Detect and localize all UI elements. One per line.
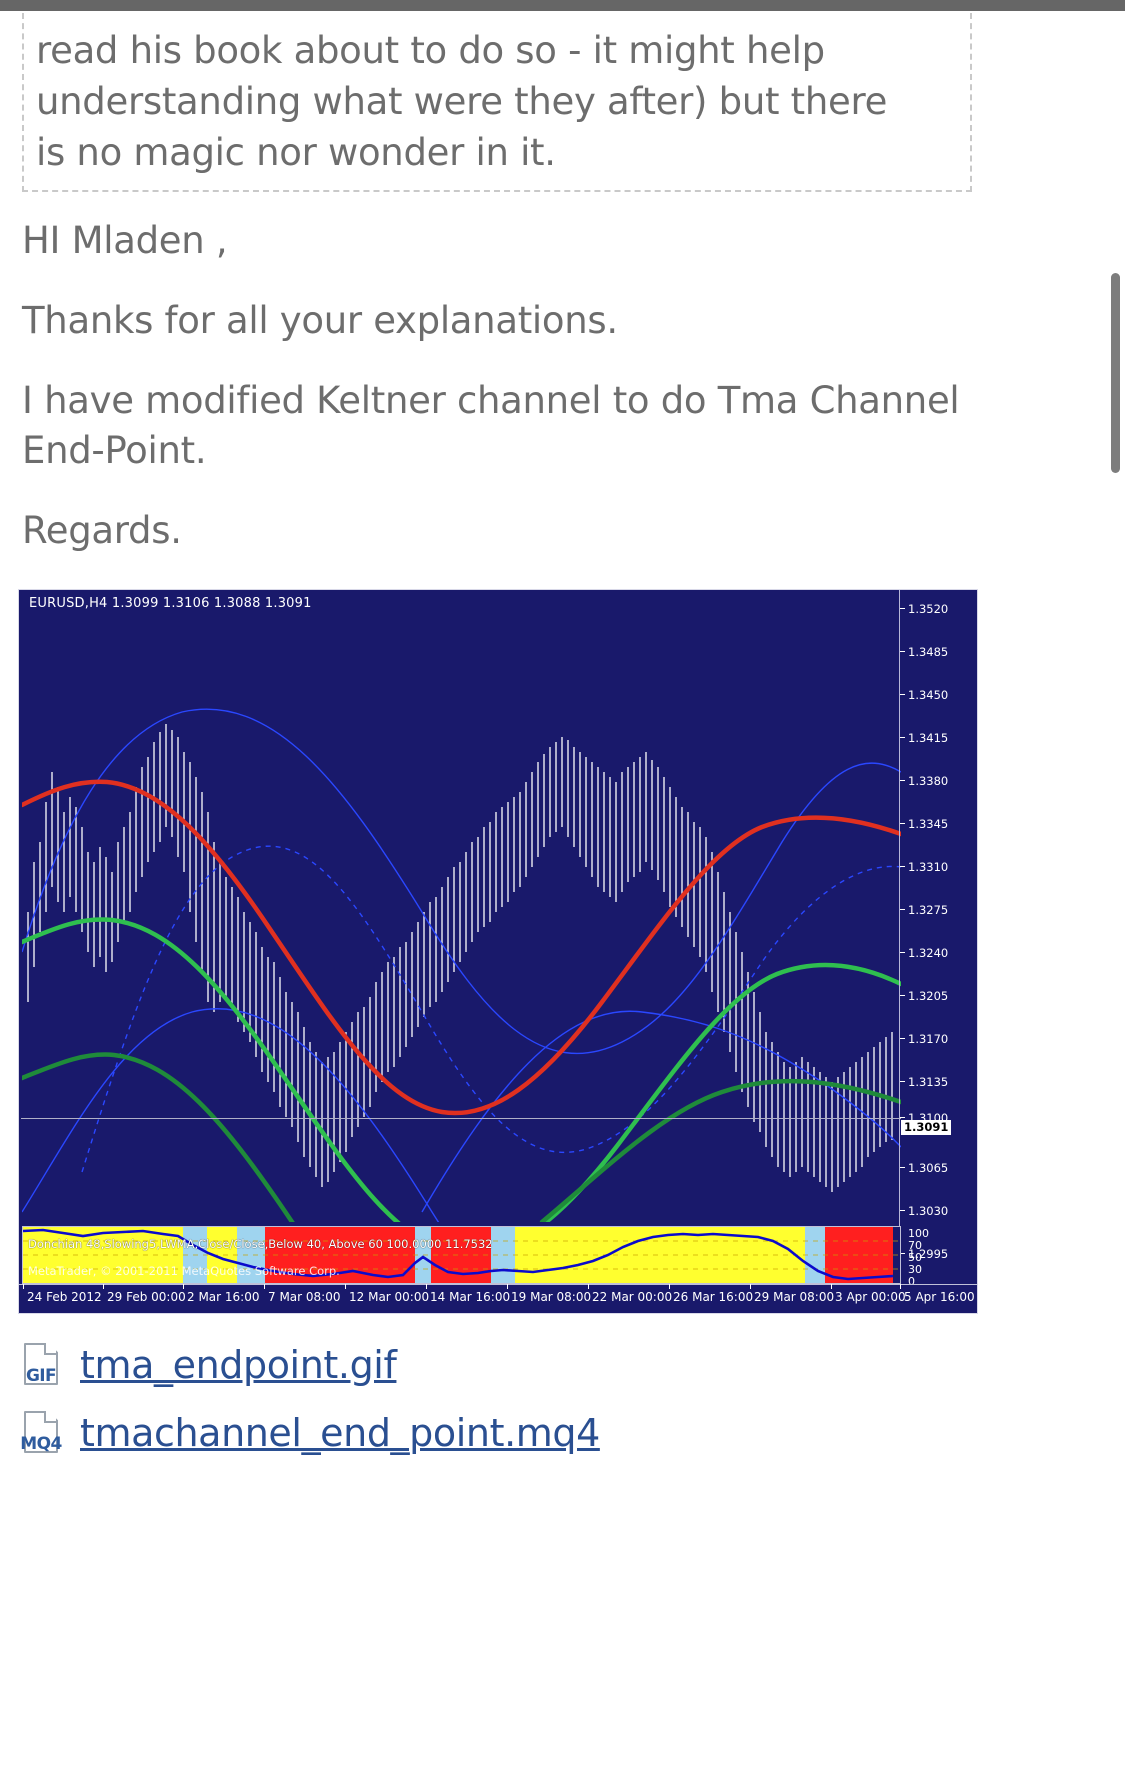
candlestick-series xyxy=(28,724,892,1192)
chart-price-plot xyxy=(22,612,901,1222)
post-paragraph-thanks: Thanks for all your explanations. xyxy=(22,296,972,346)
price-tick-13: 1.3065 xyxy=(899,1161,948,1175)
time-axis[interactable]: 24 Feb 2012 29 Feb 00:00 2 Mar 16:00 7 M… xyxy=(19,1284,977,1313)
price-tick-2: 1.3450 xyxy=(899,688,948,702)
page-scrollbar-thumb[interactable] xyxy=(1111,273,1120,473)
quoted-message-block: … read his book about to do so - it migh… xyxy=(22,13,972,192)
time-tick-4: 12 Mar 00:00 xyxy=(349,1290,429,1304)
indicator-tick-50: 50 xyxy=(908,1252,922,1263)
time-tick-6: 19 Mar 08:00 xyxy=(511,1290,591,1304)
quote-clipped-line: … xyxy=(36,17,960,25)
post-paragraph-signoff: Regards. xyxy=(22,506,972,556)
indicator-scale: 100 70 50 30 0 xyxy=(899,1226,977,1286)
indicator-tick-100: 100 xyxy=(908,1228,929,1239)
current-price-badge: 1.3091 xyxy=(901,1120,951,1135)
indicator-subwindow[interactable]: Donchian 48,Slowing5,LWMA,Close/Close,Be… xyxy=(22,1226,901,1284)
tma-lower-band-darkgreen-2 xyxy=(542,1081,901,1222)
quote-line-3: is no magic nor wonder in it. xyxy=(36,127,960,178)
price-tick-1: 1.3485 xyxy=(899,645,948,659)
post-body: HI Mladen , Thanks for all your explanat… xyxy=(22,216,972,586)
time-tick-10: 3 Apr 00:00 xyxy=(835,1290,906,1304)
price-tick-8: 1.3240 xyxy=(899,946,948,960)
attachment-row-gif[interactable]: GIF tma_endpoint.gif xyxy=(20,1341,970,1389)
time-tick-0: 24 Feb 2012 xyxy=(27,1290,102,1304)
post-paragraph-description: I have modified Keltner channel to do Tm… xyxy=(22,376,972,476)
time-tick-3: 7 Mar 08:00 xyxy=(268,1290,341,1304)
post-paragraph-greeting: HI Mladen , xyxy=(22,216,972,266)
quote-line-2: understanding what were they after) but … xyxy=(36,76,960,127)
time-tick-5: 14 Mar 16:00 xyxy=(430,1290,510,1304)
price-tick-14: 1.3030 xyxy=(899,1204,948,1218)
current-price-line xyxy=(21,1118,901,1119)
chart-title-ohlc: EURUSD,H4 1.3099 1.3106 1.3088 1.3091 xyxy=(29,596,312,611)
metatrader-chart-image[interactable]: EURUSD,H4 1.3099 1.3106 1.3088 1.3091 xyxy=(18,589,978,1314)
quote-line-1: read his book about to do so - it might … xyxy=(36,25,960,76)
price-tick-10: 1.3170 xyxy=(899,1032,948,1046)
mq4-file-icon: MQ4 xyxy=(20,1409,62,1457)
price-scale[interactable]: 1.3520 1.3485 1.3450 1.3415 1.3380 1.334… xyxy=(899,590,977,1313)
price-tick-4: 1.3380 xyxy=(899,774,948,788)
channel-lower-line-2 xyxy=(422,1011,901,1212)
forum-post-page: … read his book about to do so - it migh… xyxy=(0,11,1125,1781)
indicator-tick-70: 70 xyxy=(908,1240,922,1251)
price-tick-0: 1.3520 xyxy=(899,602,948,616)
time-tick-2: 2 Mar 16:00 xyxy=(187,1290,260,1304)
attachment-link-mq4[interactable]: tmachannel_end_point.mq4 xyxy=(80,1410,600,1456)
price-tick-6: 1.3310 xyxy=(899,860,948,874)
chart-canvas: EURUSD,H4 1.3099 1.3106 1.3088 1.3091 xyxy=(19,590,977,1313)
time-tick-1: 29 Feb 00:00 xyxy=(107,1290,186,1304)
price-tick-5: 1.3345 xyxy=(899,817,948,831)
browser-chrome-bar xyxy=(0,0,1125,11)
metaquotes-copyright: MetaTrader, © 2001-2011 MetaQuotes Softw… xyxy=(28,1264,340,1278)
page-scrollbar-track[interactable] xyxy=(1107,11,1125,1781)
attachment-link-gif[interactable]: tma_endpoint.gif xyxy=(80,1342,396,1388)
attachment-row-mq4[interactable]: MQ4 tmachannel_end_point.mq4 xyxy=(20,1409,970,1457)
time-tick-11: 5 Apr 16:00 xyxy=(904,1290,975,1304)
time-tick-9: 29 Mar 08:00 xyxy=(754,1290,834,1304)
indicator-label: Donchian 48,Slowing5,LWMA,Close/Close,Be… xyxy=(28,1237,493,1251)
time-tick-7: 22 Mar 00:00 xyxy=(592,1290,672,1304)
price-tick-9: 1.3205 xyxy=(899,989,948,1003)
tma-mid-band-green xyxy=(22,919,901,1222)
price-tick-7: 1.3275 xyxy=(899,903,948,917)
gif-file-icon-label: GIF xyxy=(20,1366,62,1386)
price-tick-3: 1.3415 xyxy=(899,731,948,745)
attachment-list: GIF tma_endpoint.gif MQ4 tmachannel_end_… xyxy=(20,1341,970,1477)
gif-file-icon: GIF xyxy=(20,1341,62,1389)
price-plot-svg xyxy=(22,612,901,1222)
time-tick-8: 26 Mar 16:00 xyxy=(673,1290,753,1304)
price-tick-11: 1.3135 xyxy=(899,1075,948,1089)
indicator-tick-30: 30 xyxy=(908,1264,922,1275)
mq4-file-icon-label: MQ4 xyxy=(20,1434,62,1454)
